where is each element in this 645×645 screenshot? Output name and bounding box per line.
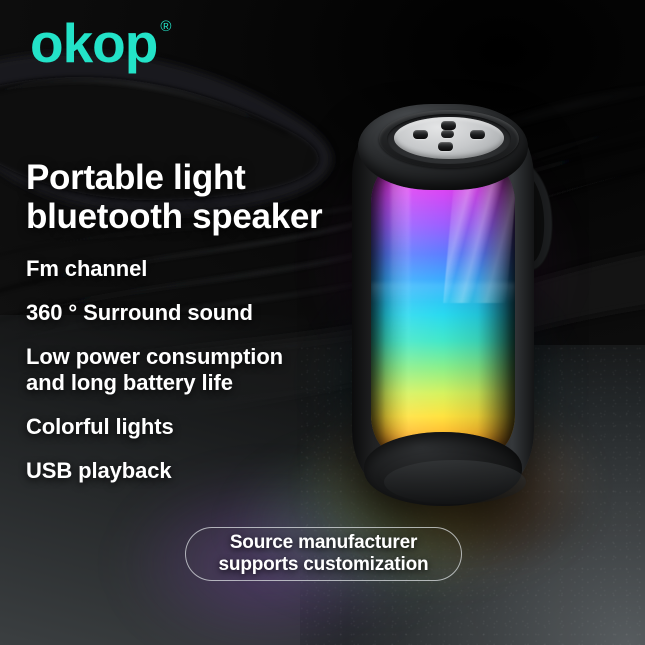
badge-line-2: supports customization	[219, 554, 429, 576]
brand-logo: okop ®	[30, 16, 171, 71]
lens-reflection-streak	[391, 181, 410, 343]
feature-item-low-power: Low power consumption and long battery l…	[26, 344, 346, 396]
feature-item-fm-channel: Fm channel	[26, 256, 346, 282]
control-button-down[interactable]	[438, 142, 453, 151]
bluetooth-speaker-product	[352, 108, 534, 500]
feature-item-usb-playback: USB playback	[26, 458, 346, 484]
headline-line-2: bluetooth speaker	[26, 197, 322, 236]
control-button-left[interactable]	[413, 130, 428, 139]
speaker-base	[364, 432, 522, 506]
product-advertisement-banner: okop ® Portable light bluetooth speaker …	[0, 0, 645, 645]
feature-item-surround-sound: 360 ° Surround sound	[26, 300, 346, 326]
control-button-right[interactable]	[470, 130, 485, 139]
feature-line: and long battery life	[26, 370, 346, 396]
speaker-base-rim	[384, 460, 526, 504]
headline-line-1: Portable light	[26, 158, 322, 197]
control-button-power[interactable]	[441, 130, 454, 138]
speaker-control-panel[interactable]	[394, 117, 504, 159]
speaker-light-lens	[371, 164, 515, 454]
feature-line: Low power consumption	[26, 344, 346, 370]
control-button-up[interactable]	[441, 121, 456, 130]
feature-item-colorful-lights: Colorful lights	[26, 414, 346, 440]
brand-logo-text: okop	[30, 16, 157, 71]
feature-line: Fm channel	[26, 256, 346, 282]
customization-badge: Source manufacturer supports customizati…	[185, 527, 462, 581]
feature-line: 360 ° Surround sound	[26, 300, 346, 326]
headline: Portable light bluetooth speaker	[26, 158, 322, 236]
feature-line: USB playback	[26, 458, 346, 484]
registered-trademark-icon: ®	[160, 19, 171, 34]
badge-line-1: Source manufacturer	[230, 532, 417, 554]
feature-list: Fm channel 360 ° Surround sound Low powe…	[26, 256, 346, 484]
speaker-top-cap	[358, 104, 528, 190]
feature-line: Colorful lights	[26, 414, 346, 440]
